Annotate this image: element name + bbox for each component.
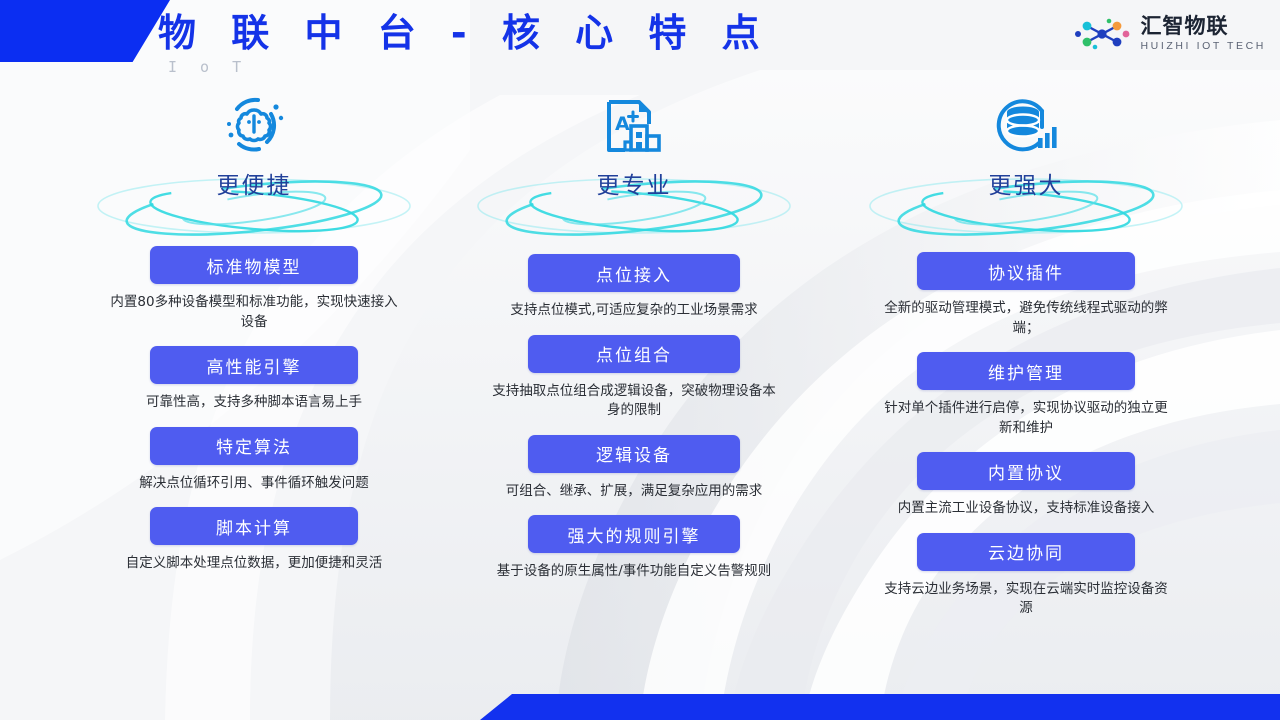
feature-item: 高性能引擎 可靠性高，支持多种脚本语言易上手 [84, 346, 424, 413]
feature-description: 自定义脚本处理点位数据，更加便捷和灵活 [108, 554, 400, 574]
column-heading: 更专业 [597, 166, 672, 200]
feature-column-more-professional: A 更专业 点位 [444, 92, 824, 613]
feature-item: 标准物模型 内置80多种设备模型和标准功能，实现快速接入设备 [84, 246, 424, 332]
column-heading-block: 更专业 [469, 162, 799, 236]
brain-gear-icon [217, 92, 291, 162]
feature-item: 点位接入 支持点位模式,可适应复杂的工业场景需求 [464, 254, 804, 321]
feature-columns: 更便捷 标准物模型 内置80多种设备模型和标准功能，实现快速接入设备 高性能引擎… [0, 92, 1280, 613]
feature-item: 脚本计算 自定义脚本处理点位数据，更加便捷和灵活 [84, 507, 424, 574]
feature-pill[interactable]: 特定算法 [150, 427, 358, 465]
feature-item: 协议插件 全新的驱动管理模式，避免传统线程式驱动的弊端； [856, 252, 1196, 338]
feature-pill[interactable]: 协议插件 [917, 252, 1135, 290]
feature-description: 针对单个插件进行启停，实现协议驱动的独立更新和维护 [880, 399, 1172, 438]
feature-description: 全新的驱动管理模式，避免传统线程式驱动的弊端； [880, 299, 1172, 338]
feature-pill[interactable]: 点位组合 [528, 335, 740, 373]
feature-description: 基于设备的原生属性/事件功能自定义告警规则 [488, 562, 780, 582]
page-title: 物 联 中 台 - 核 心 特 点 [158, 14, 771, 54]
feature-description: 解决点位循环引用、事件循环触发问题 [108, 474, 400, 494]
feature-item: 点位组合 支持抽取点位组合成逻辑设备，突破物理设备本身的限制 [464, 335, 804, 421]
feature-pill[interactable]: 维护管理 [917, 352, 1135, 390]
page-subtitle: I o T [168, 58, 771, 76]
column-heading: 更强大 [989, 166, 1064, 200]
feature-pill[interactable]: 内置协议 [917, 452, 1135, 490]
feature-column-more-powerful: 更强大 协议插件 全新的驱动管理模式，避免传统线程式驱动的弊端； 维护管理 针对… [836, 92, 1216, 613]
document-a-plus-building-icon: A [599, 92, 669, 162]
feature-description: 支持云边业务场景，实现在云端实时监控设备资源 [880, 580, 1172, 619]
feature-pill[interactable]: 标准物模型 [150, 246, 358, 284]
feature-column-more-convenient: 更便捷 标准物模型 内置80多种设备模型和标准功能，实现快速接入设备 高性能引擎… [64, 92, 444, 613]
column-heading-block: 更强大 [861, 162, 1191, 236]
feature-description: 可靠性高，支持多种脚本语言易上手 [108, 393, 400, 413]
feature-item-list: 标准物模型 内置80多种设备模型和标准功能，实现快速接入设备 高性能引擎 可靠性… [84, 246, 424, 574]
feature-item: 特定算法 解决点位循环引用、事件循环触发问题 [84, 427, 424, 494]
feature-description: 内置80多种设备模型和标准功能，实现快速接入设备 [108, 293, 400, 332]
database-chart-icon [990, 92, 1062, 162]
footer-accent-bar [480, 694, 1280, 720]
feature-item: 逻辑设备 可组合、继承、扩展，满足复杂应用的需求 [464, 435, 804, 502]
feature-description: 内置主流工业设备协议，支持标准设备接入 [880, 499, 1172, 519]
feature-item: 强大的规则引擎 基于设备的原生属性/事件功能自定义告警规则 [464, 515, 804, 582]
feature-item-list: 协议插件 全新的驱动管理模式，避免传统线程式驱动的弊端； 维护管理 针对单个插件… [856, 252, 1196, 619]
page-title-block: 物 联 中 台 - 核 心 特 点 I o T [158, 14, 771, 76]
feature-item: 云边协同 支持云边业务场景，实现在云端实时监控设备资源 [856, 533, 1196, 619]
feature-item: 维护管理 针对单个插件进行启停，实现协议驱动的独立更新和维护 [856, 352, 1196, 438]
feature-pill[interactable]: 点位接入 [528, 254, 740, 292]
feature-description: 可组合、继承、扩展，满足复杂应用的需求 [488, 482, 780, 502]
header-accent-bar [0, 0, 170, 62]
feature-description: 支持点位模式,可适应复杂的工业场景需求 [488, 301, 780, 321]
slide: 物 联 中 台 - 核 心 特 点 I o T 汇智物联 [0, 0, 1280, 720]
brand-logo: 汇智物联 HUIZHI IOT TECH [1074, 16, 1266, 52]
logo-name-en: HUIZHI IOT TECH [1140, 41, 1266, 52]
feature-pill[interactable]: 云边协同 [917, 533, 1135, 571]
feature-item-list: 点位接入 支持点位模式,可适应复杂的工业场景需求 点位组合 支持抽取点位组合成逻… [464, 254, 804, 582]
feature-pill[interactable]: 脚本计算 [150, 507, 358, 545]
column-heading-block: 更便捷 [89, 162, 419, 236]
column-heading: 更便捷 [217, 166, 292, 200]
feature-pill[interactable]: 强大的规则引擎 [528, 515, 740, 553]
feature-item: 内置协议 内置主流工业设备协议，支持标准设备接入 [856, 452, 1196, 519]
logo-name-cn: 汇智物联 [1140, 16, 1266, 37]
feature-description: 支持抽取点位组合成逻辑设备，突破物理设备本身的限制 [488, 382, 780, 421]
feature-pill[interactable]: 高性能引擎 [150, 346, 358, 384]
molecule-network-icon [1074, 17, 1132, 51]
feature-pill[interactable]: 逻辑设备 [528, 435, 740, 473]
